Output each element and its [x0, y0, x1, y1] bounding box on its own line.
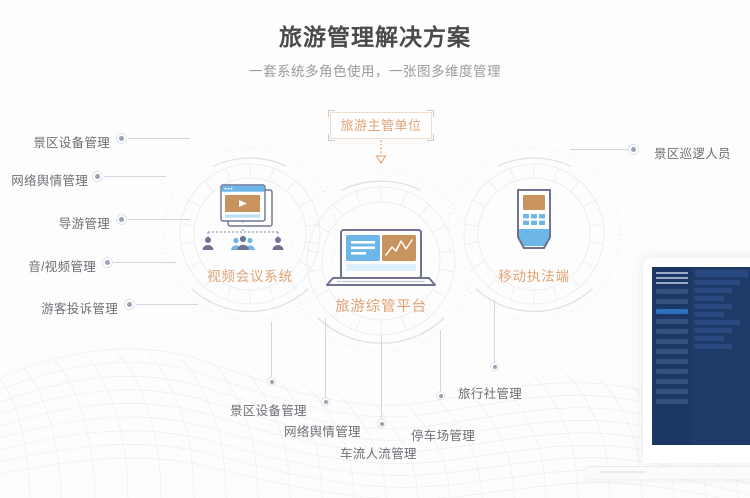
device-sidebar-item	[656, 329, 688, 334]
device-sidebar-logo	[656, 272, 688, 284]
right-item-label-0: 景区巡逻人员	[654, 143, 731, 162]
device-list-row	[695, 320, 740, 325]
bottom-item-line-1	[325, 318, 326, 398]
node-mobile-enforcement[interactable]: 移动执法端	[464, 182, 604, 285]
badge-corner-bottom-right	[427, 134, 434, 141]
bottom-item-line-4	[494, 300, 495, 363]
laptop-dashboard-icon	[311, 228, 451, 290]
device-sidebar-item	[656, 319, 688, 324]
page-subtitle: 一套系统多角色使用，一张图多维度管理	[0, 63, 750, 81]
device-sidebar-item	[656, 299, 688, 304]
left-item-label-3: 音/视频管理	[0, 256, 96, 275]
bottom-item-line-0	[271, 322, 272, 378]
device-main-panel	[692, 267, 750, 445]
bottom-item-dot-0[interactable]	[267, 377, 276, 386]
device-list-row	[695, 280, 740, 285]
device-sidebar-item	[656, 349, 688, 354]
node-video-conference[interactable]: 视频会议系统	[180, 182, 320, 285]
right-item-dot-0[interactable]	[628, 144, 639, 155]
device-list-row	[695, 304, 732, 309]
bottom-item-label-4: 旅行社管理	[458, 383, 522, 402]
device-list-row	[695, 344, 732, 349]
device-list-row	[695, 296, 724, 301]
triangle-down-icon	[374, 140, 388, 166]
bottom-item-label-2: 车流人流管理	[340, 443, 417, 462]
device-screen	[652, 267, 750, 445]
left-item-line-3	[114, 262, 176, 263]
left-item-dot-2[interactable]	[116, 214, 127, 225]
left-item-label-0: 景区设备管理	[10, 132, 110, 151]
right-item-line-0	[570, 149, 628, 150]
device-sidebar-item	[656, 339, 688, 344]
authority-badge-label: 旅游主管单位	[330, 112, 432, 139]
device-list-row	[695, 336, 724, 341]
device-sidebar-item	[656, 379, 688, 384]
bottom-item-line-2	[381, 335, 382, 420]
page-title: 旅游管理解决方案	[0, 22, 750, 52]
left-item-line-2	[128, 219, 190, 220]
device-sidebar-item	[656, 389, 688, 394]
device-toolbar	[695, 270, 748, 277]
badge-corner-bottom-left	[328, 134, 335, 141]
device-list-row	[695, 288, 732, 293]
left-item-line-4	[136, 304, 198, 305]
device-sidebar-item	[656, 309, 688, 314]
bottom-item-label-3: 停车场管理	[411, 425, 475, 444]
device-sidebar-item	[656, 369, 688, 374]
bottom-item-line-3	[440, 330, 441, 392]
device-sidebar-item	[656, 359, 688, 364]
authority-badge[interactable]: 旅游主管单位	[330, 112, 432, 139]
left-item-dot-4[interactable]	[124, 299, 135, 310]
device-sidebar-item	[656, 289, 688, 294]
bottom-item-label-1: 网络舆情管理	[284, 421, 361, 440]
laptop-device-mock	[643, 258, 750, 463]
bottom-item-label-0: 景区设备管理	[230, 400, 307, 419]
device-sidebar	[652, 267, 692, 445]
badge-corner-top-left	[328, 110, 335, 117]
left-item-line-0	[128, 138, 190, 139]
left-item-label-1: 网络舆情管理	[0, 170, 88, 189]
node-mobile-enforcement-label: 移动执法端	[464, 265, 604, 285]
bottom-item-dot-4[interactable]	[490, 362, 499, 371]
device-list-row	[695, 312, 724, 317]
laptop-base	[585, 466, 750, 479]
bottom-item-dot-3[interactable]	[436, 391, 445, 400]
header: 旅游管理解决方案 一套系统多角色使用，一张图多维度管理	[0, 22, 750, 81]
handheld-terminal-icon	[464, 182, 604, 260]
node-video-conference-label: 视频会议系统	[180, 265, 320, 285]
bottom-item-dot-2[interactable]	[377, 419, 386, 428]
laptop-base-notch	[600, 471, 646, 473]
left-item-label-2: 导游管理	[10, 213, 110, 232]
device-list-row	[695, 328, 732, 333]
device-sidebar-item	[656, 399, 688, 404]
left-item-label-4: 游客投诉管理	[18, 298, 118, 317]
node-platform[interactable]: 旅游综管平台	[311, 228, 451, 316]
bottom-item-dot-1[interactable]	[321, 397, 330, 406]
left-item-dot-3[interactable]	[102, 257, 113, 268]
left-item-line-1	[104, 176, 166, 177]
left-item-dot-0[interactable]	[116, 133, 127, 144]
infographic-canvas: 旅游管理解决方案 一套系统多角色使用，一张图多维度管理 旅游主管单位	[0, 0, 750, 498]
node-platform-label: 旅游综管平台	[311, 295, 451, 316]
video-window-icon	[180, 182, 320, 260]
left-item-dot-1[interactable]	[92, 171, 103, 182]
badge-corner-top-right	[427, 110, 434, 117]
